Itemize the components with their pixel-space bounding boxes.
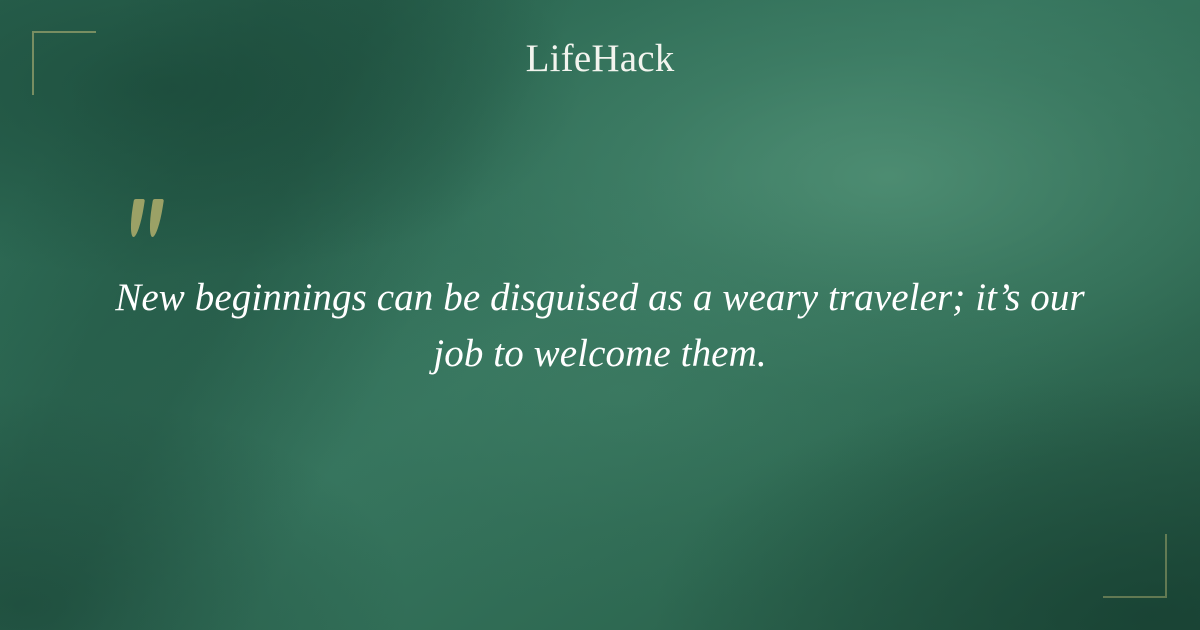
quote-text: New beginnings can be disguised as a wea… xyxy=(110,270,1090,382)
quotation-mark-stroke-right xyxy=(147,199,164,237)
corner-bracket-bottom-right-icon xyxy=(1103,534,1167,598)
quote-card: LifeHack New beginnings can be disguised… xyxy=(0,0,1200,630)
quote-block: New beginnings can be disguised as a wea… xyxy=(0,193,1200,382)
quotation-mark-stroke-left xyxy=(128,199,145,237)
quotation-mark-icon xyxy=(131,193,177,245)
brand-wordmark: LifeHack xyxy=(0,39,1200,78)
